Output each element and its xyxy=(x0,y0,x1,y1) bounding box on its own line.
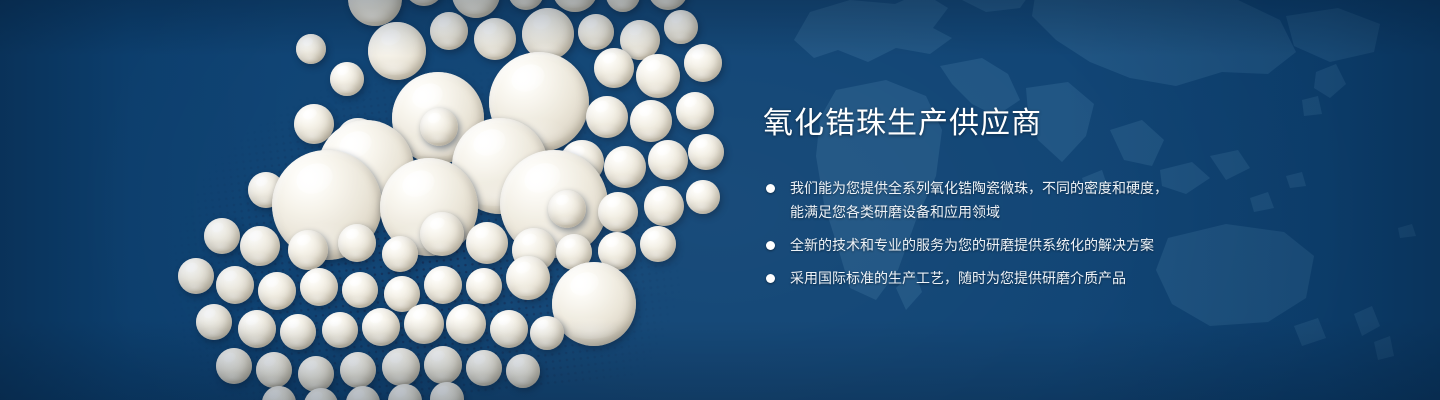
feature-bullet: 我们能为您提供全系列氧化锆陶瓷微珠，不同的密度和硬度，能满足您各类研磨设备和应用… xyxy=(763,176,1233,224)
feature-bullet: 采用国际标准的生产工艺，随时为您提供研磨介质产品 xyxy=(763,266,1233,290)
bullet-dot-icon xyxy=(766,241,775,250)
hero-banner: 氧化锆珠生产供应商 我们能为您提供全系列氧化锆陶瓷微珠，不同的密度和硬度，能满足… xyxy=(0,0,1440,400)
banner-copy-block: 氧化锆珠生产供应商 我们能为您提供全系列氧化锆陶瓷微珠，不同的密度和硬度，能满足… xyxy=(763,104,1233,290)
feature-bullet-line: 全新的技术和专业的服务为您的研磨提供系统化的解决方案 xyxy=(790,233,1233,257)
banner-headline: 氧化锆珠生产供应商 xyxy=(763,104,1233,144)
feature-bullet: 全新的技术和专业的服务为您的研磨提供系统化的解决方案 xyxy=(763,233,1233,257)
feature-bullet-line: 采用国际标准的生产工艺，随时为您提供研磨介质产品 xyxy=(790,266,1233,290)
bullet-dot-icon xyxy=(766,184,775,193)
bullet-dot-icon xyxy=(766,274,775,283)
feature-bullet-list: 我们能为您提供全系列氧化锆陶瓷微珠，不同的密度和硬度，能满足您各类研磨设备和应用… xyxy=(763,176,1233,290)
feature-bullet-line: 我们能为您提供全系列氧化锆陶瓷微珠，不同的密度和硬度， xyxy=(790,176,1233,200)
feature-bullet-line: 能满足您各类研磨设备和应用领域 xyxy=(790,200,1233,224)
